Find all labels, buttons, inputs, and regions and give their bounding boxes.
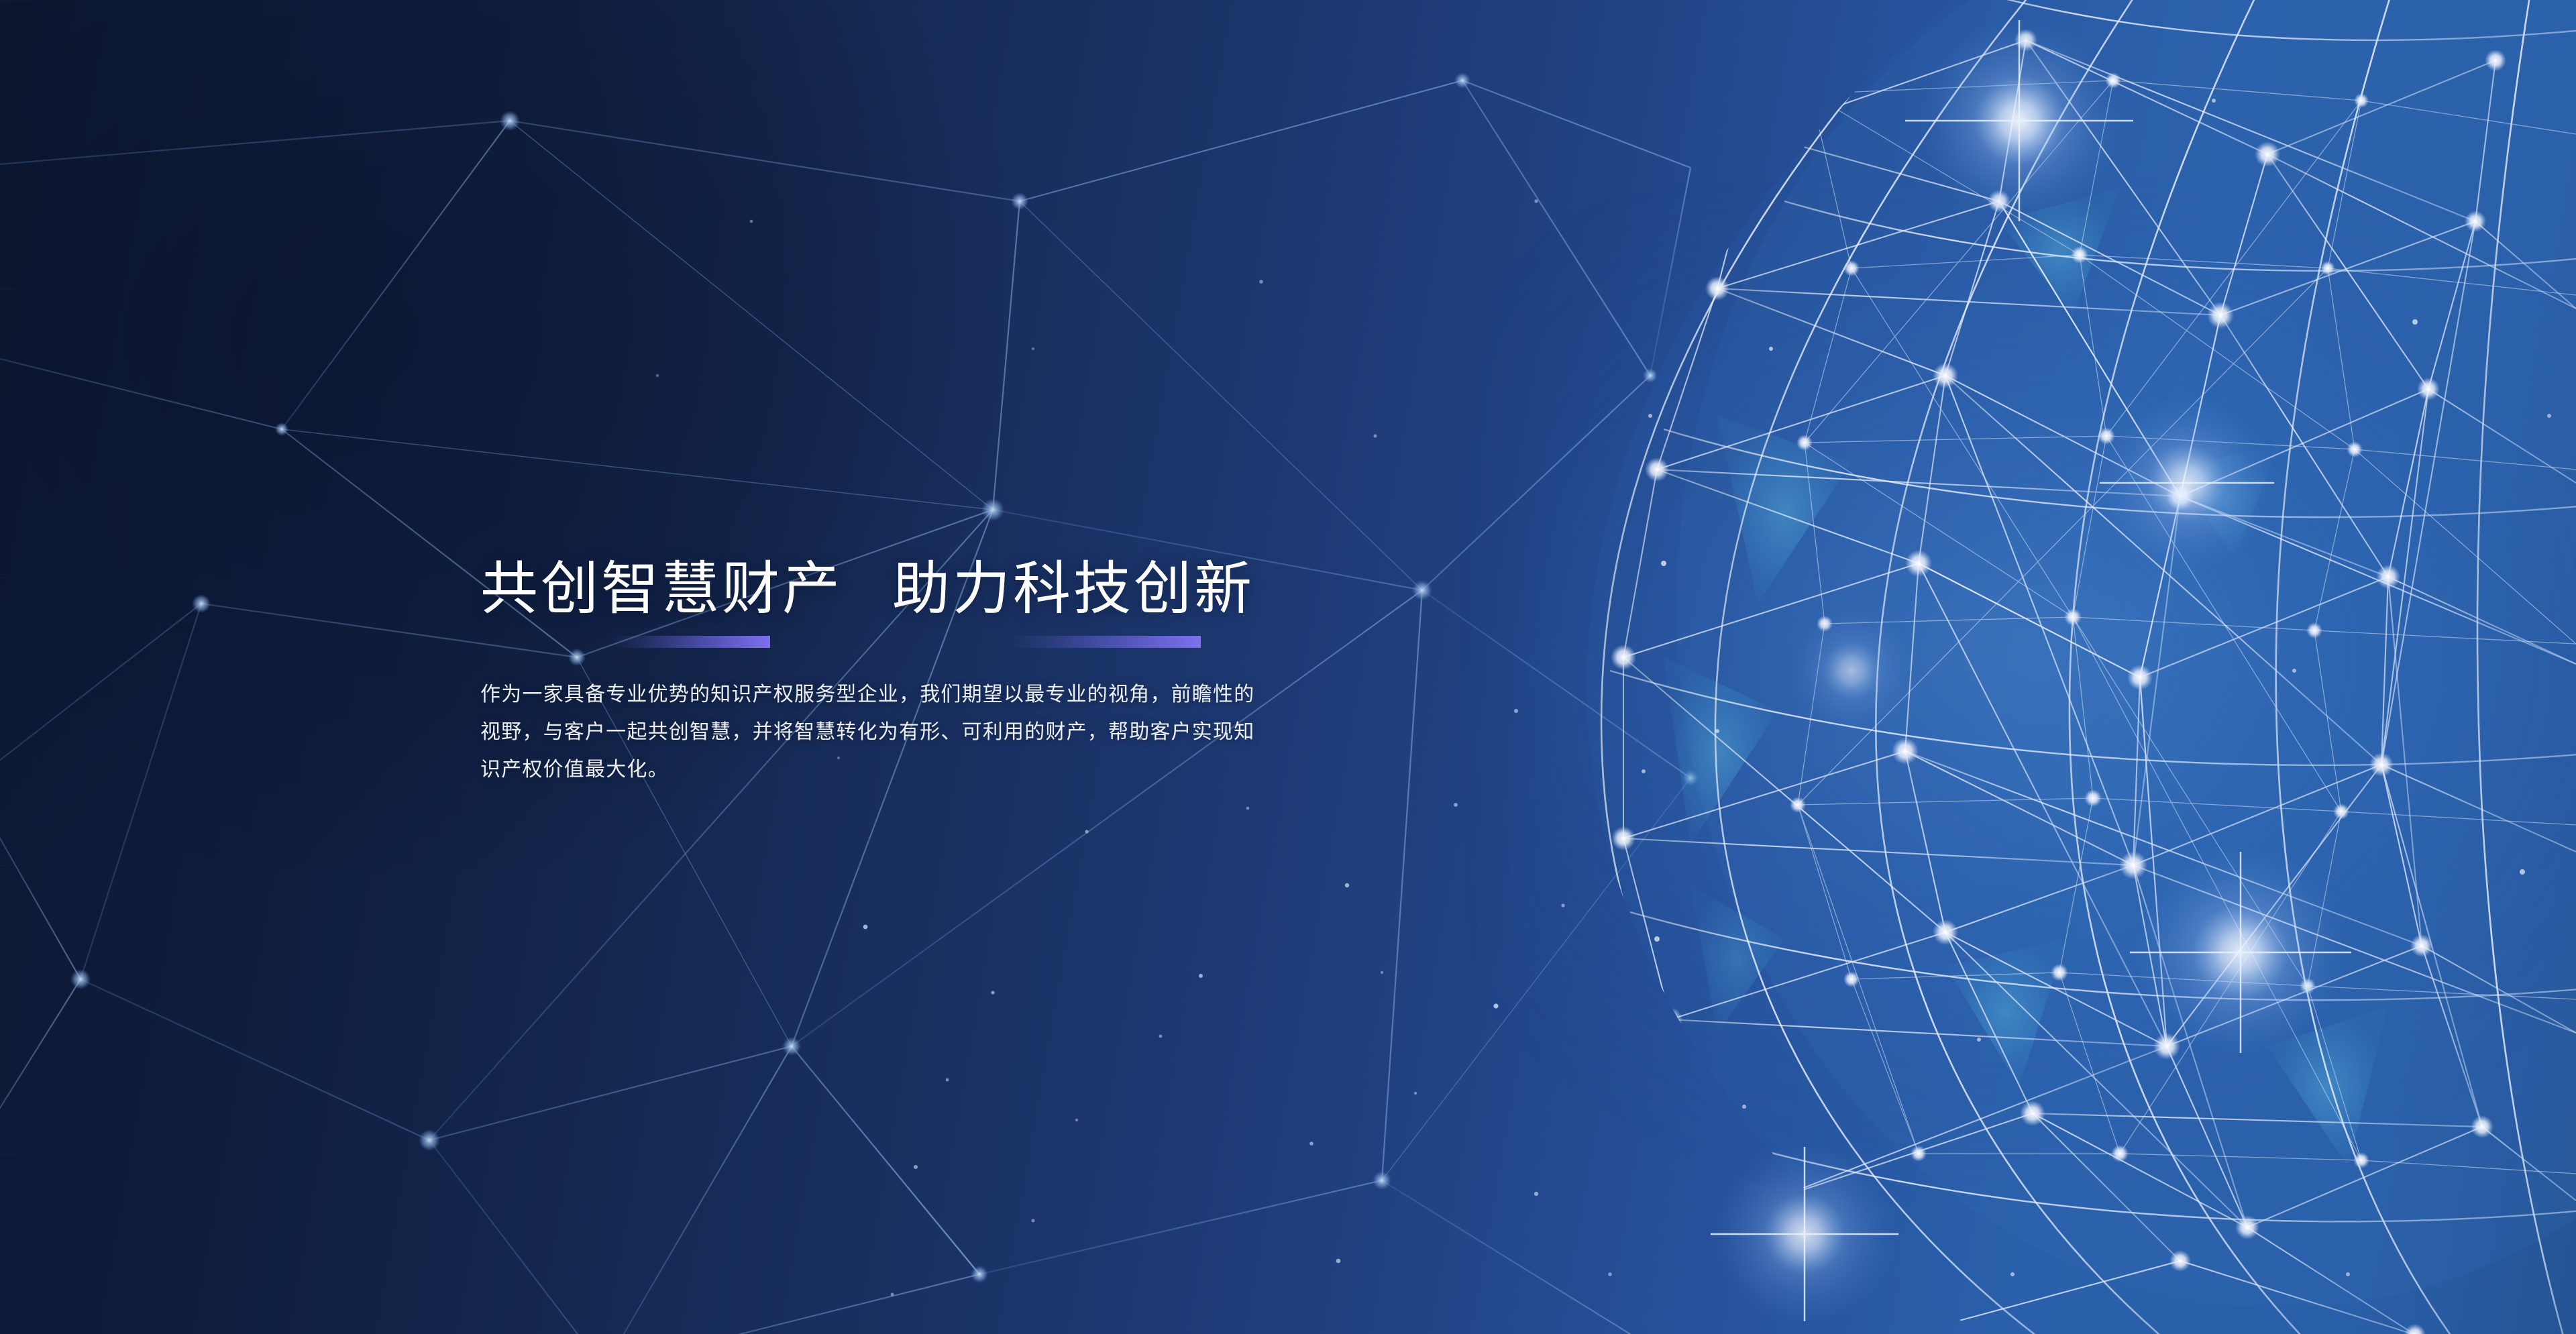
headline-text-1: 共创智慧财产 bbox=[480, 557, 843, 621]
accent-bar-1 bbox=[612, 636, 770, 648]
headline-text-2: 助力科技创新 bbox=[892, 557, 1254, 621]
hero-copy: 共创智慧财产 助力科技创新 作为一家具备专业优势的知识产权服务型企业，我们期望以… bbox=[480, 554, 1433, 809]
headline-segment-2: 助力科技创新 bbox=[892, 554, 1254, 624]
page-title: 共创智慧财产 助力科技创新 bbox=[480, 554, 1433, 624]
accent-bar-2 bbox=[1009, 636, 1201, 648]
hero-description: 作为一家具备专业优势的知识产权服务型企业，我们期望以最专业的视角，前瞻性的视野，… bbox=[480, 676, 1272, 789]
headline-segment-1: 共创智慧财产 bbox=[480, 554, 843, 624]
hero-banner: 共创智慧财产 助力科技创新 作为一家具备专业优势的知识产权服务型企业，我们期望以… bbox=[0, 0, 2576, 1334]
